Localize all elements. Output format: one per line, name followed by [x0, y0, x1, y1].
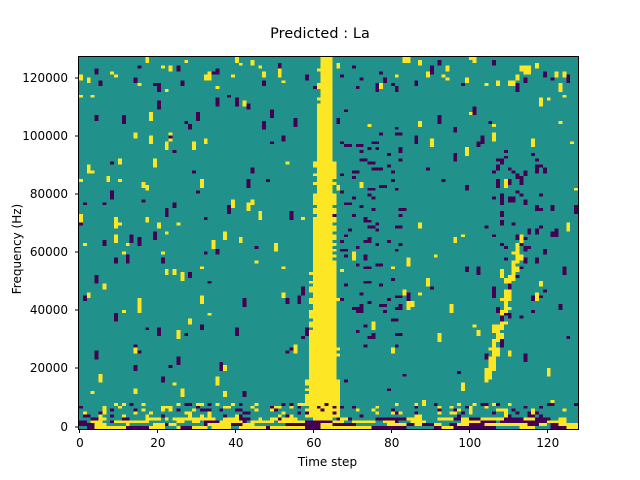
x-tick-label: 60: [306, 436, 321, 450]
y-tick-mark: [75, 426, 79, 427]
y-tick-mark: [75, 135, 79, 136]
y-tick-label: 20000: [0, 361, 68, 375]
y-tick-mark: [75, 77, 79, 78]
x-tick-mark: [157, 429, 158, 433]
y-tick-mark: [75, 252, 79, 253]
x-tick-mark: [79, 429, 80, 433]
x-tick-label: 100: [458, 436, 481, 450]
x-tick-mark: [547, 429, 548, 433]
spectrogram-heatmap: [79, 57, 578, 429]
x-tick-label: 120: [536, 436, 559, 450]
y-tick-mark: [75, 194, 79, 195]
y-tick-mark: [75, 310, 79, 311]
y-tick-label: 120000: [0, 71, 68, 85]
x-tick-label: 80: [384, 436, 399, 450]
y-tick-label: 0: [0, 420, 68, 434]
y-tick-mark: [75, 368, 79, 369]
x-tick-mark: [391, 429, 392, 433]
x-tick-label: 40: [228, 436, 243, 450]
x-tick-mark: [313, 429, 314, 433]
x-tick-mark: [469, 429, 470, 433]
page-title: Predicted : La: [0, 26, 640, 42]
x-tick-mark: [235, 429, 236, 433]
matplotlib-figure: Predicted : La 0200004000060000800001000…: [0, 0, 640, 480]
x-tick-label: 20: [150, 436, 165, 450]
x-axis-label: Time step: [78, 455, 577, 469]
heatmap-axes: [78, 56, 579, 430]
x-tick-label: 0: [76, 436, 84, 450]
y-axis-label: Frequency (Hz): [10, 139, 24, 359]
